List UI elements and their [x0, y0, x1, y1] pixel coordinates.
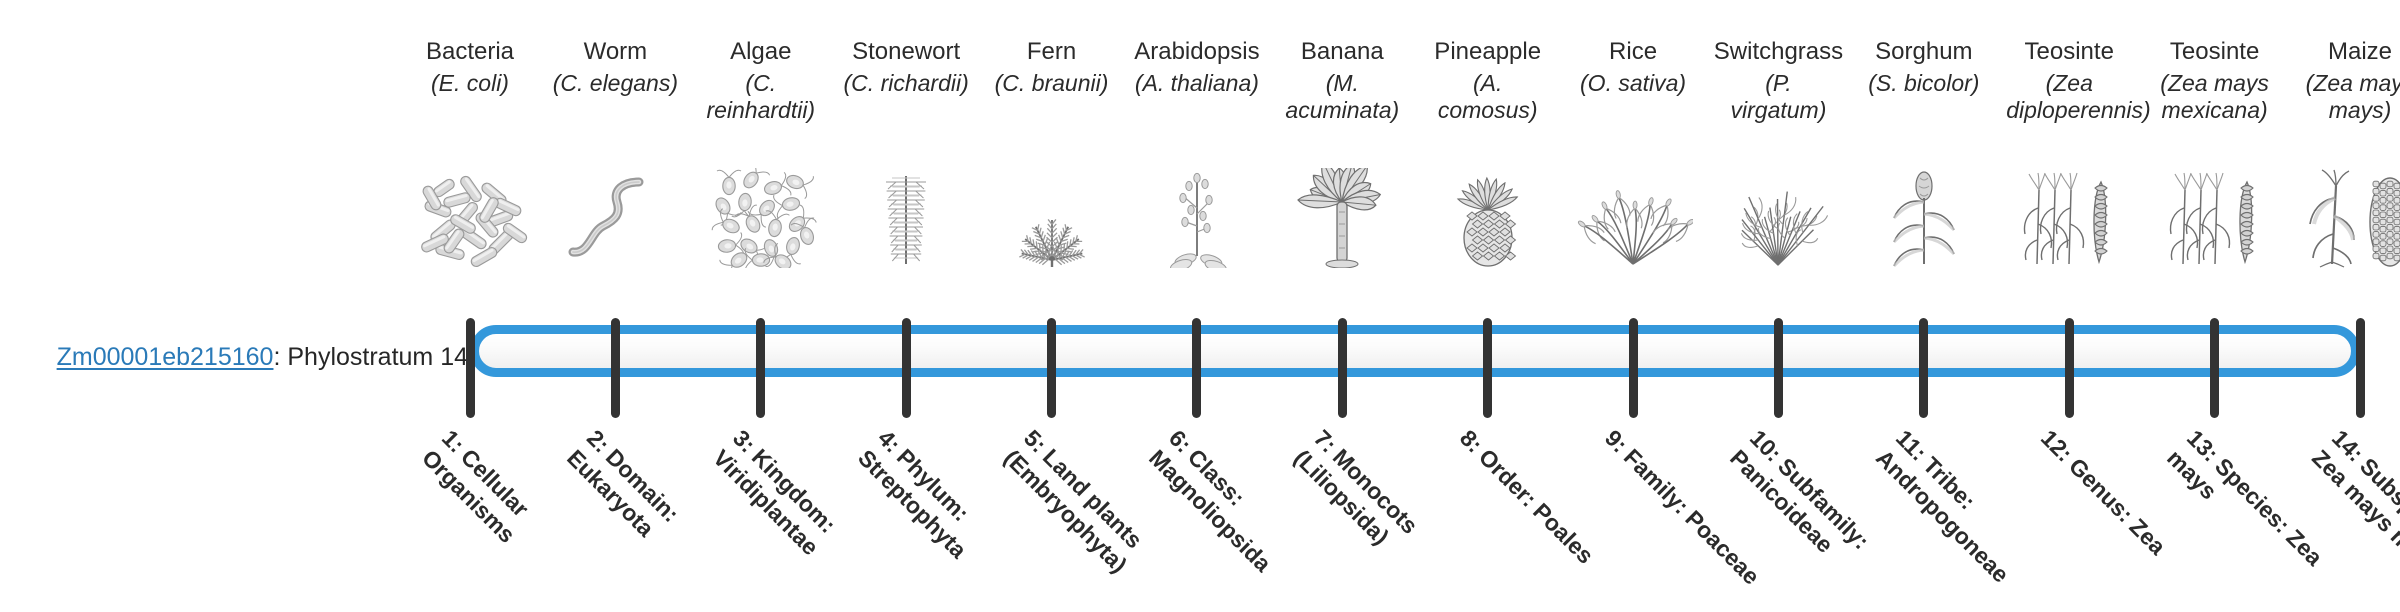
- gene-id-link[interactable]: Zm00001eb215160: [57, 343, 274, 371]
- phylostratum-timeline-figure: Zm00001eb215160: Phylostratum 14 Bacteri…: [0, 0, 2400, 580]
- taxonomy-rank-labels: 1: Cellular Organisms2: Domain: Eukaryot…: [470, 0, 2390, 580]
- gene-phylostratum-label: Zm00001eb215160: Phylostratum 14: [28, 342, 468, 372]
- gene-phylostratum-text: : Phylostratum 14: [273, 343, 468, 371]
- taxonomy-rank-label: 8: Order: Poales: [1454, 424, 1622, 592]
